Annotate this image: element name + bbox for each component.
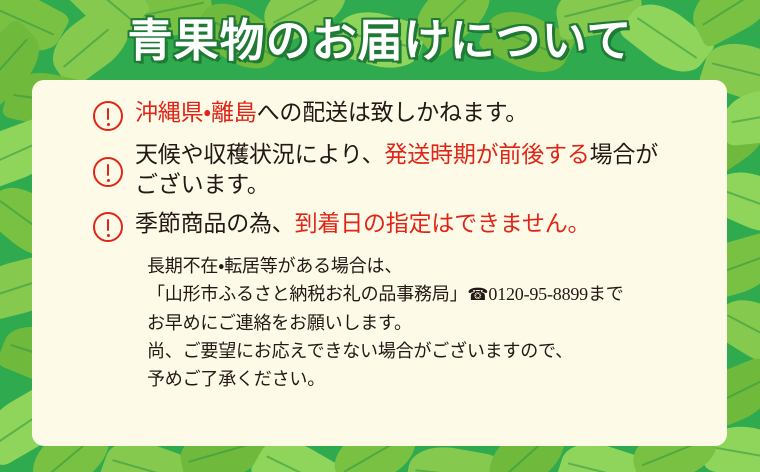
office-name: 「山形市ふるさと納税お礼の品事務局」 [147,284,467,304]
list-item: 天候や収穫状況により、発送時期が前後する場合がございます。 [54,140,705,200]
notice-card: 沖縄県・離島への配送は致しかねます。 天候や収穫状況により、発送時期が前後する場… [32,80,727,446]
notice-2-body-c: ございます。 [135,172,270,197]
note-line-2-suffix: まで [588,284,624,304]
notice-text-1: 沖縄県・離島への配送は致しかねます。 [135,98,528,128]
notice-text-3: 季節商品の為、到着日の指定はできません。 [135,209,590,239]
exclamation-circle-icon [93,101,123,131]
exclamation-circle-icon [93,157,123,187]
note-line-1: 長期不在・転居等がある場合は、 [147,252,705,280]
banner-title-container: 青果物のお届けについて [0,12,760,70]
exclamation-circle-icon [93,212,123,242]
notice-2-highlight: 発送時期が前後する [384,142,589,167]
list-item: 沖縄県・離島への配送は致しかねます。 [54,98,705,131]
note-line-5: 予めご了承ください。 [147,365,705,393]
notice-1-body: への配送は致しかねます。 [257,100,528,125]
page-title: 青果物のお届けについて [128,12,633,70]
notice-3-body: 季節商品の為、 [135,211,295,236]
note-line-3: お早めにご連絡をお願いします。 [147,309,705,337]
notice-2-body-b: 場合が [590,142,658,167]
telephone-icon: ☎ [467,285,488,305]
delivery-notice-banner: 青果物のお届けについて 沖縄県・離島への配送は致しかねます。 天候や収穫状況によ… [0,0,760,472]
notice-text-2: 天候や収穫状況により、発送時期が前後する場合がございます。 [135,140,658,200]
notice-3-highlight: 到着日の指定はできません。 [295,211,591,236]
notice-1-highlight: 沖縄県・離島 [135,100,257,125]
contact-note: 長期不在・転居等がある場合は、 「山形市ふるさと納税お礼の品事務局」☎0120-… [147,252,705,393]
notice-2-body-a: 天候や収穫状況により、 [135,142,384,167]
note-line-2: 「山形市ふるさと納税お礼の品事務局」☎0120-95-8899まで [147,280,705,309]
telephone-number: 0120-95-8899 [488,284,588,304]
note-line-4: 尚、ご要望にお応えできない場合がございますので、 [147,337,705,365]
list-item: 季節商品の為、到着日の指定はできません。 [54,209,705,242]
notice-list: 沖縄県・離島への配送は致しかねます。 天候や収穫状況により、発送時期が前後する場… [54,98,705,242]
